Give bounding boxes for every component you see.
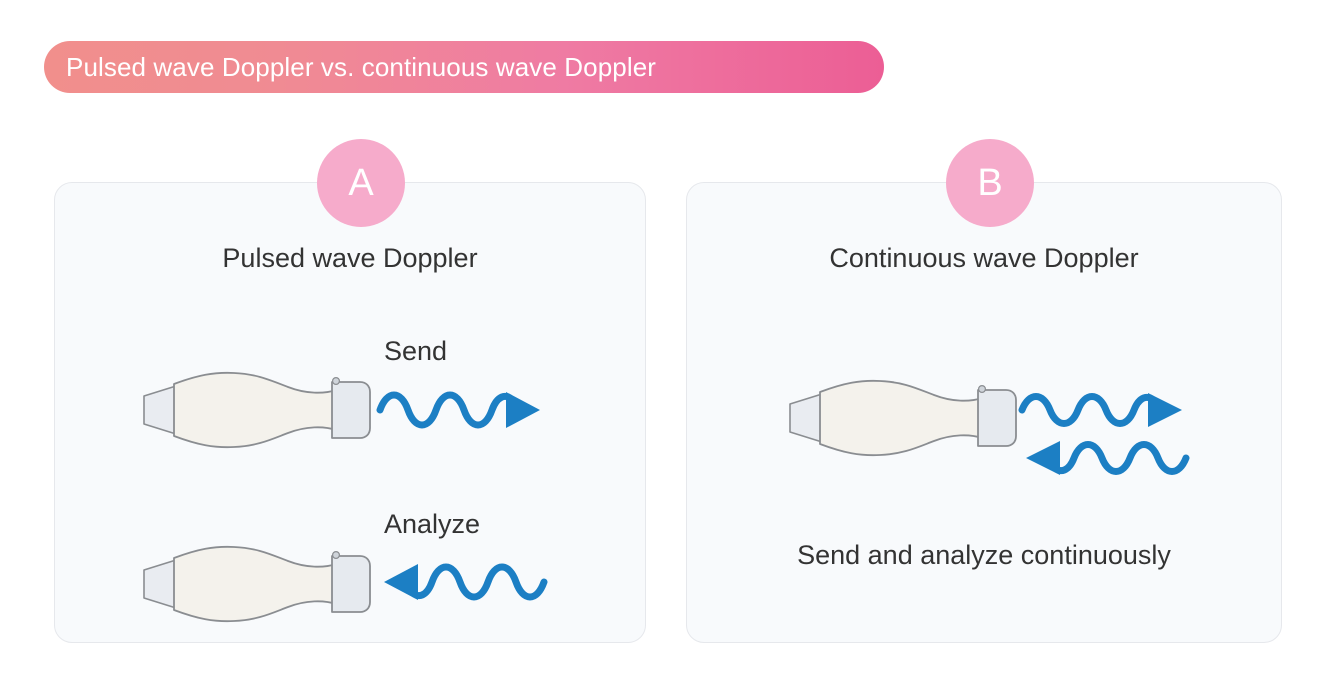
badge-a: A xyxy=(317,139,405,227)
badge-b-label: B xyxy=(977,164,1002,202)
panel-b-heading: Continuous wave Doppler xyxy=(687,243,1281,274)
ultrasound-probe-icon xyxy=(782,372,1022,469)
badge-b: B xyxy=(946,139,1034,227)
ultrasound-probe-icon xyxy=(136,364,376,461)
panel-a-heading: Pulsed wave Doppler xyxy=(55,243,645,274)
wave-arrow-send-right-icon xyxy=(376,386,544,439)
wave-arrow-analyze-left-icon xyxy=(376,558,548,611)
panel-b-caption: Send and analyze continuously xyxy=(686,540,1282,571)
label-analyze: Analyze xyxy=(384,509,480,540)
badge-a-label: A xyxy=(348,164,373,202)
title-banner: Pulsed wave Doppler vs. continuous wave … xyxy=(44,41,884,93)
label-send: Send xyxy=(384,336,447,367)
wave-arrow-send-right-icon xyxy=(1018,388,1186,437)
page-title: Pulsed wave Doppler vs. continuous wave … xyxy=(66,52,656,83)
wave-arrow-receive-left-icon xyxy=(1018,436,1190,485)
ultrasound-probe-icon xyxy=(136,538,376,635)
